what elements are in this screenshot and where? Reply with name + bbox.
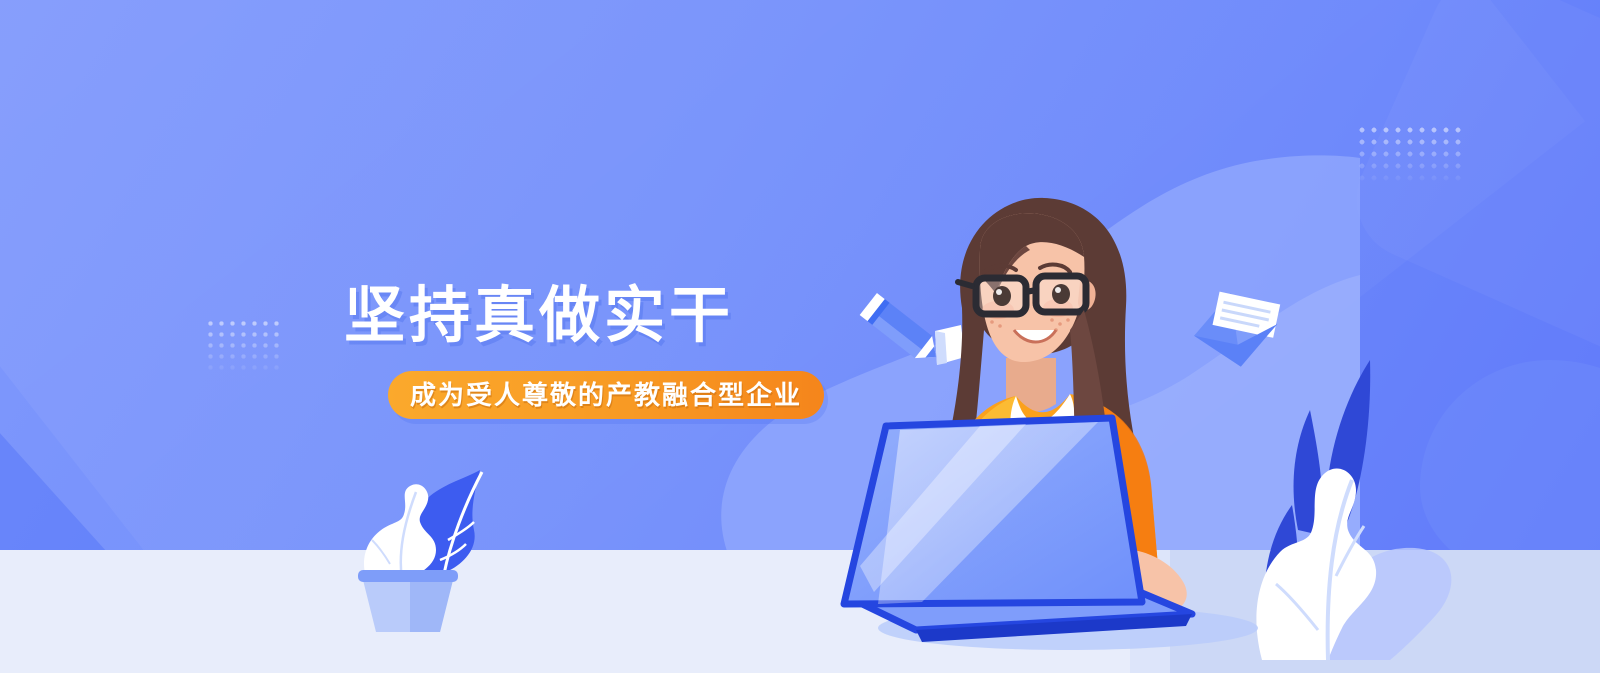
hero-banner: 坚持真做实干 成为受人尊敬的产教融合型企业: [0, 0, 1600, 673]
potted-plant: [340, 448, 500, 633]
person-with-laptop-illustration: [830, 190, 1290, 650]
page-title: 坚持真做实干: [344, 283, 864, 347]
banner-copy: 坚持真做实干 成为受人尊敬的产教融合型企业: [344, 283, 864, 419]
subtitle-pill: 成为受人尊敬的产教融合型企业: [388, 371, 824, 419]
subtitle-text: 成为受人尊敬的产教融合型企业: [410, 380, 802, 410]
